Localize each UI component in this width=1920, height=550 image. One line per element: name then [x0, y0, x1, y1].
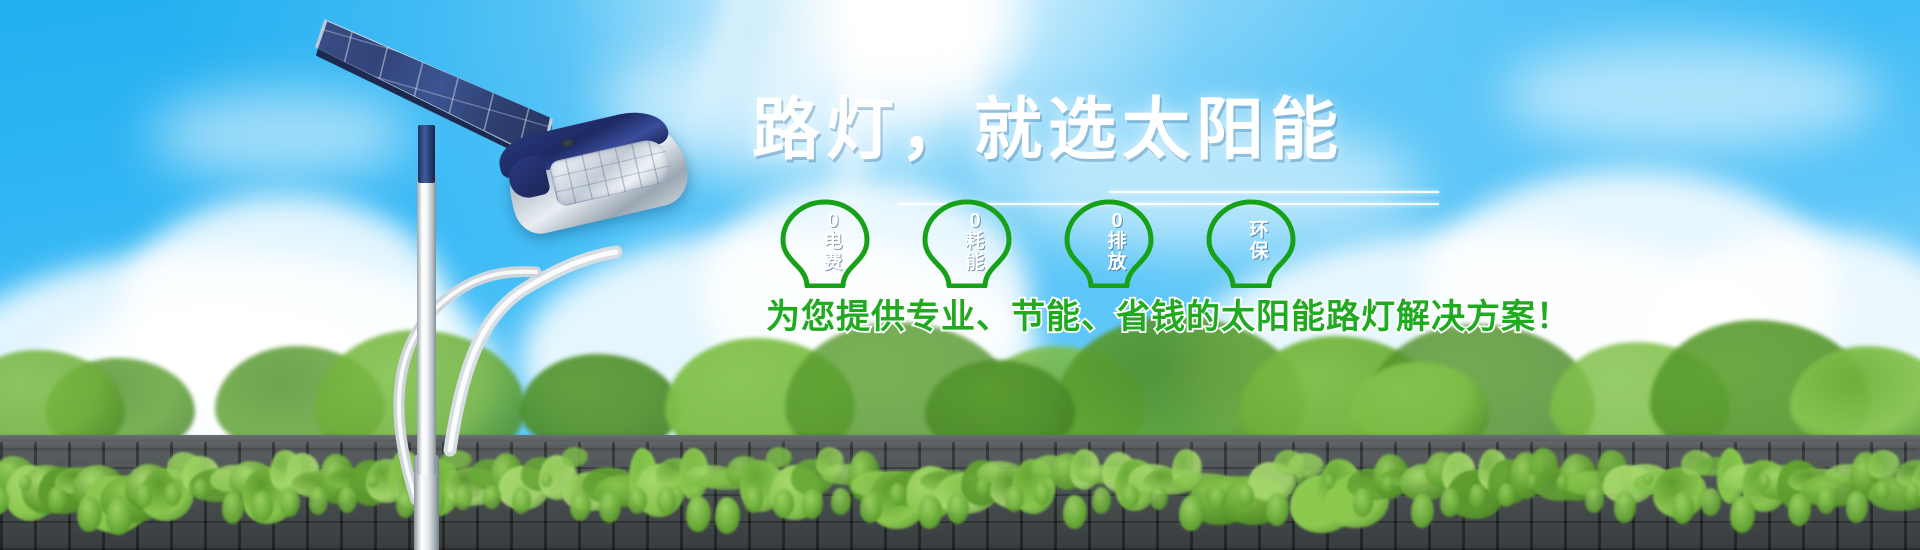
- tagline: 为您提供专业、节能、省钱的太阳能路灯解决方案！: [766, 289, 1571, 338]
- badge-label-line1: 电: [823, 232, 842, 253]
- badge-zero-emission[interactable]: 0排放: [1054, 196, 1164, 288]
- badge-label-line1: 排: [1107, 232, 1126, 253]
- badge-label-line1: 环: [1249, 221, 1268, 242]
- divider-line: [1109, 191, 1439, 193]
- badge-zero-value: 0: [969, 211, 980, 232]
- badge-zero-electric-fee[interactable]: 0电费: [770, 196, 880, 288]
- badge-text: 0排放: [1054, 196, 1164, 288]
- badge-label: 环保: [1249, 221, 1268, 262]
- badge-label: 排放: [1107, 232, 1126, 273]
- badge-zero-value: 0: [1111, 211, 1122, 232]
- banner-copy: 路灯，就选太阳能 0电费0耗能0排放环保 为您提供专业、节能、省钱的太阳能路灯解…: [0, 0, 1920, 550]
- badge-label: 电费: [823, 232, 842, 273]
- badge-label-line2: 费: [823, 253, 842, 274]
- badge-label-line2: 能: [965, 253, 984, 274]
- badge-text: 环保: [1196, 196, 1306, 288]
- feature-badge-list: 0电费0耗能0排放环保: [770, 196, 1410, 292]
- badge-text: 0电费: [770, 196, 880, 288]
- badge-label-line2: 保: [1249, 242, 1268, 263]
- headline: 路灯，就选太阳能: [752, 96, 1344, 164]
- badge-label-line2: 放: [1107, 253, 1126, 274]
- badge-zero-value: 0: [827, 211, 838, 232]
- badge-zero-energy-consumption[interactable]: 0耗能: [912, 196, 1022, 288]
- badge-eco-friendly[interactable]: 环保: [1196, 196, 1306, 288]
- solar-street-light-banner: 路灯，就选太阳能 0电费0耗能0排放环保 为您提供专业、节能、省钱的太阳能路灯解…: [0, 0, 1920, 550]
- badge-text: 0耗能: [912, 196, 1022, 288]
- badge-label: 耗能: [965, 232, 984, 273]
- badge-label-line1: 耗: [965, 232, 984, 253]
